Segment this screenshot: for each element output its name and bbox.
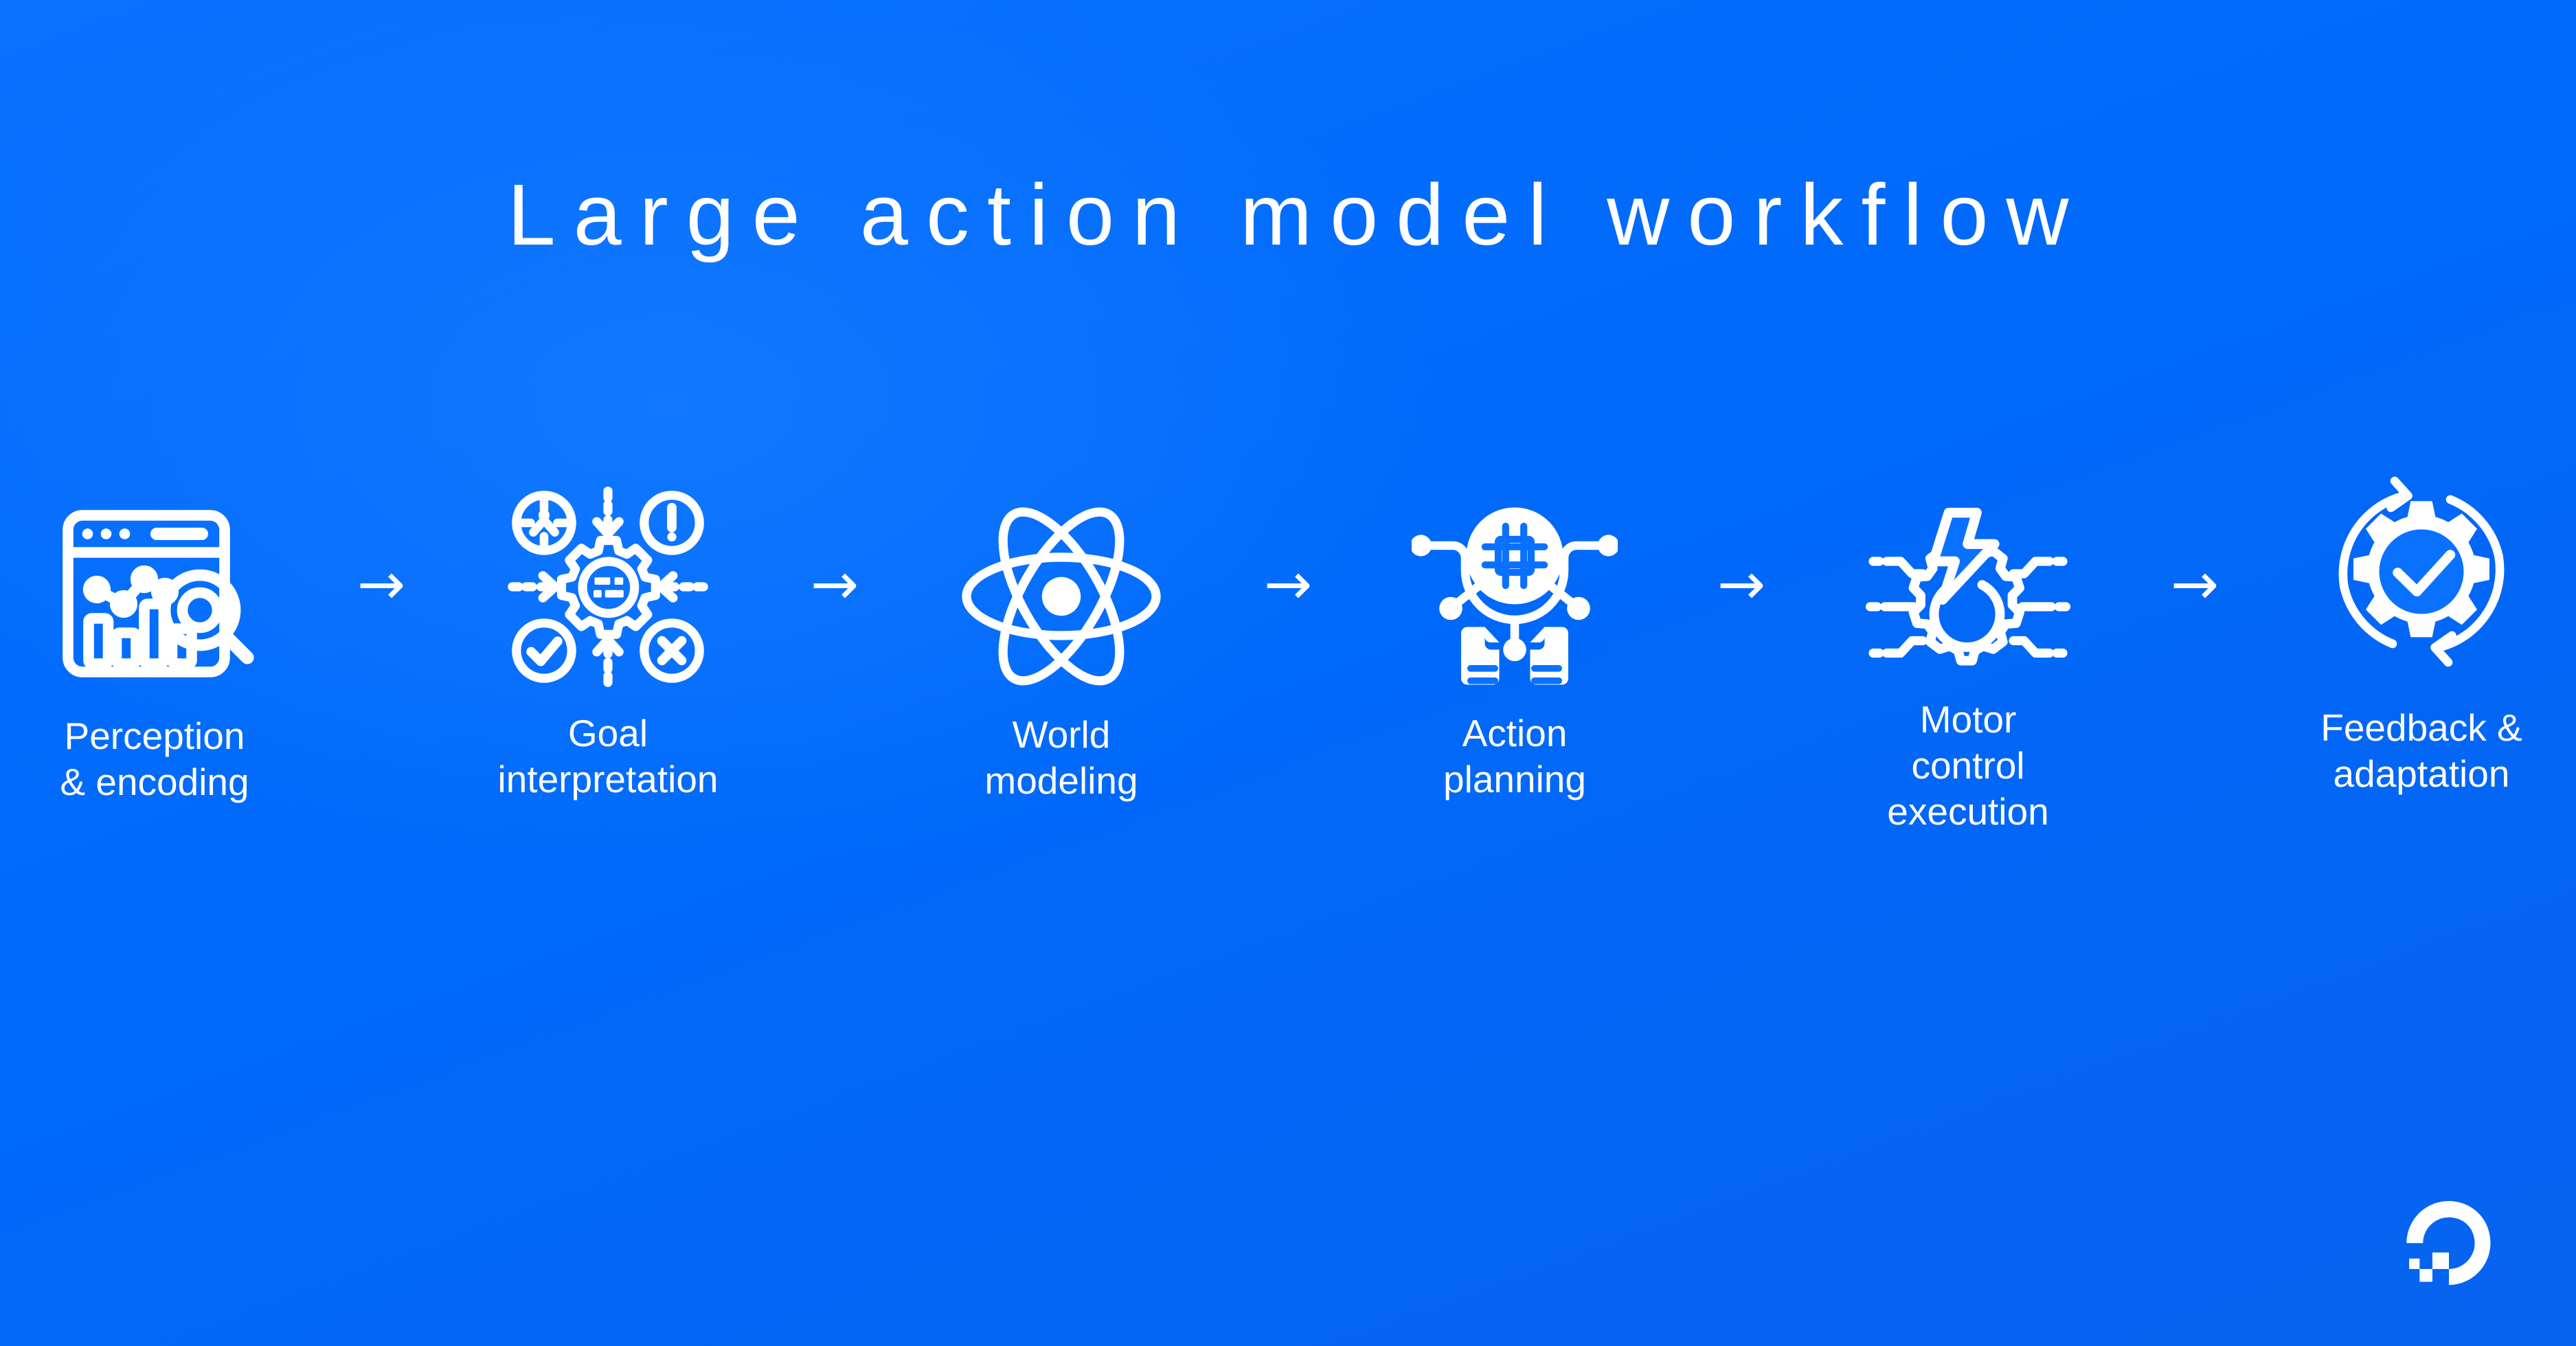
step-label: Action planning (1443, 710, 1586, 803)
step-label: Perception & encoding (60, 713, 249, 805)
workflow-step-perception-encoding[interactable]: Perception & encoding (41, 481, 268, 805)
digitalocean-logo (2404, 1196, 2494, 1286)
atom-orbit-icon (958, 493, 1164, 699)
workflow-step-feedback-adaptation[interactable]: Feedback & adaptation (2308, 481, 2535, 797)
gear-check-refresh-icon (2318, 469, 2524, 675)
flow-arrow-1: → (340, 481, 422, 687)
step-label: Goal interpretation (497, 710, 718, 803)
flow-arrow-5: → (2154, 481, 2236, 687)
workflow-steps: Perception & encoding → (41, 481, 2535, 835)
cpu-network-documents-icon (1412, 488, 1618, 694)
flow-arrow-2: → (793, 481, 876, 687)
workflow-step-world-modeling[interactable]: World modeling (948, 481, 1175, 804)
step-label: Feedback & adaptation (2320, 705, 2522, 797)
workflow-step-action-planning[interactable]: Action planning (1401, 481, 1628, 803)
workflow-step-motor-control-execution[interactable]: Motor control execution (1855, 481, 2081, 835)
workflow-step-goal-interpretation[interactable]: Goal interpretation (495, 481, 721, 803)
page-title: Large action model workflow (490, 172, 2087, 258)
gear-power-bolt-circuit-icon (1865, 477, 2071, 683)
step-label: Motor control execution (1887, 697, 2048, 835)
flow-arrow-3: → (1247, 481, 1329, 687)
title-area: Large action model workflow (0, 172, 2576, 258)
dashboard-analytics-search-icon (52, 491, 258, 697)
step-label: World modeling (984, 712, 1138, 804)
flow-arrow-4: → (1700, 481, 1783, 687)
gear-goal-arrows-icon (505, 484, 711, 690)
